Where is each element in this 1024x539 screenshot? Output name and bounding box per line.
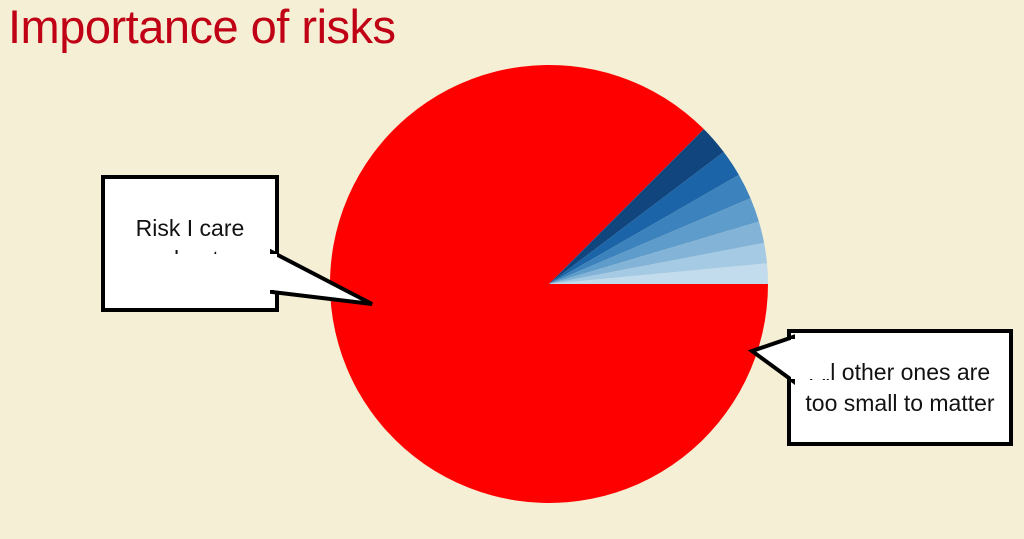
callout-risk-i-care-about[interactable]: Risk I care about [101, 175, 279, 312]
callout-right-label: All other ones are too small to matter [791, 357, 1009, 418]
slide-canvas: Importance of risks Risk I care aboutOth… [0, 0, 1024, 539]
callout-all-other-ones[interactable]: All other ones are too small to matter [787, 329, 1013, 446]
pie-slice-group: Risk I care aboutOther risk 1Other risk … [330, 65, 768, 503]
callout-left-label: Risk I care about [105, 213, 275, 274]
